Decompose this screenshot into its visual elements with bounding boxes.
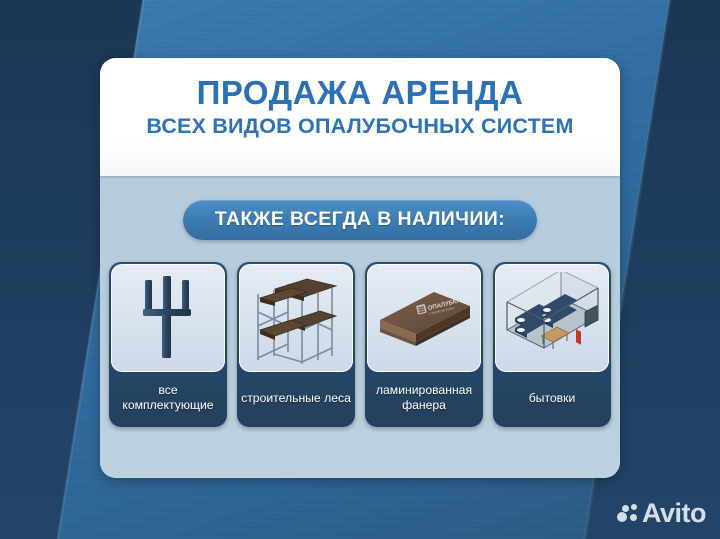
product-label-scaffolding: строительные леса <box>237 372 355 425</box>
product-label-components: все комплектующие <box>109 372 227 425</box>
laminated-plywood-icon: ОПАЛУБКА СТРОЙСИСТЕМЫ <box>372 276 476 360</box>
product-tile-row: все комплектующие <box>100 262 620 427</box>
avito-wordmark: Avito <box>642 500 706 527</box>
panel-header: ПРОДАЖА АРЕНДА ВСЕХ ВИДОВ ОПАЛУБОЧНЫХ СИ… <box>100 58 620 176</box>
page-title: ПРОДАЖА АРЕНДА <box>110 76 610 111</box>
product-art-scaffolding <box>239 264 353 372</box>
product-art-components <box>111 264 225 372</box>
availability-banner: ТАКЖЕ ВСЕГДА В НАЛИЧИИ: <box>183 200 537 240</box>
main-panel: ПРОДАЖА АРЕНДА ВСЕХ ВИДОВ ОПАЛУБОЧНЫХ СИ… <box>100 58 620 478</box>
product-tile-cabin[interactable]: бытовки <box>493 262 611 427</box>
product-tile-components[interactable]: все комплектующие <box>109 262 227 427</box>
formwork-prop-fork-icon <box>132 272 204 364</box>
site-cabin-icon <box>499 272 605 364</box>
poster-canvas: ПРОДАЖА АРЕНДА ВСЕХ ВИДОВ ОПАЛУБОЧНЫХ СИ… <box>0 0 720 539</box>
scaffolding-icon <box>244 268 348 368</box>
product-art-cabin <box>495 264 609 372</box>
avito-dots-icon <box>617 504 638 524</box>
product-art-plywood: ОПАЛУБКА СТРОЙСИСТЕМЫ <box>367 264 481 372</box>
panel-body: ТАКЖЕ ВСЕГДА В НАЛИЧИИ: <box>100 176 620 478</box>
product-tile-plywood[interactable]: ОПАЛУБКА СТРОЙСИСТЕМЫ ламинированная фан… <box>365 262 483 427</box>
product-tile-scaffolding[interactable]: строительные леса <box>237 262 355 427</box>
product-label-cabin: бытовки <box>493 372 611 425</box>
page-subtitle: ВСЕХ ВИДОВ ОПАЛУБОЧНЫХ СИСТЕМ <box>110 115 610 139</box>
product-label-plywood: ламинированная фанера <box>365 372 483 425</box>
avito-watermark: Avito <box>617 500 706 527</box>
